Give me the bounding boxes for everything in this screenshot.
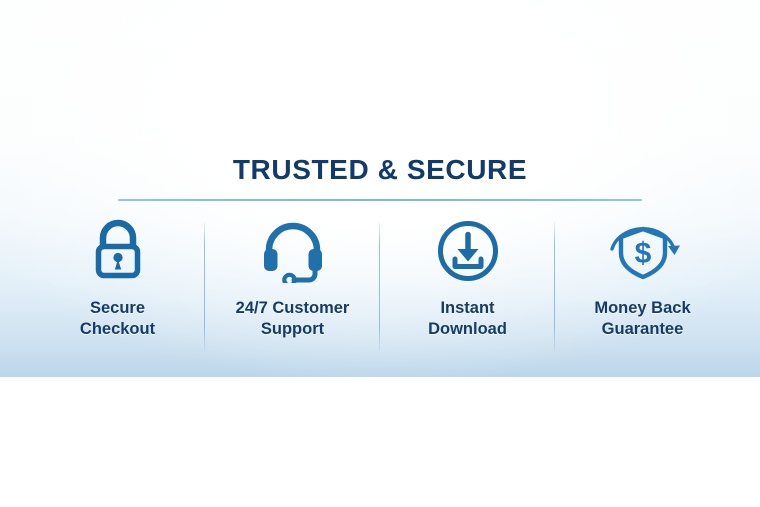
- page-title: TRUSTED & SECURE: [0, 154, 760, 186]
- feature-label: 24/7 Customer Support: [236, 298, 350, 339]
- feature-label: Secure Checkout: [80, 298, 155, 339]
- feature-item-secure-checkout: Secure Checkout: [30, 218, 205, 353]
- svg-text:$: $: [634, 237, 651, 270]
- lock-icon: [87, 218, 149, 284]
- shield-dollar-refund-icon: $: [604, 218, 682, 284]
- feature-item-money-back-guarantee: $ Money Back Guarantee: [555, 218, 730, 353]
- trust-badge-banner: TRUSTED & SECURE Secure Checkout: [0, 0, 760, 377]
- feature-item-instant-download: Instant Download: [380, 218, 555, 353]
- title-underline-divider: [118, 199, 642, 201]
- feature-list: Secure Checkout 24/7 Customer Support: [30, 218, 730, 353]
- download-circle-icon: [436, 218, 500, 284]
- headset-icon: [258, 218, 328, 284]
- feature-item-customer-support: 24/7 Customer Support: [205, 218, 380, 353]
- feature-label: Money Back Guarantee: [594, 298, 690, 339]
- feature-label: Instant Download: [428, 298, 507, 339]
